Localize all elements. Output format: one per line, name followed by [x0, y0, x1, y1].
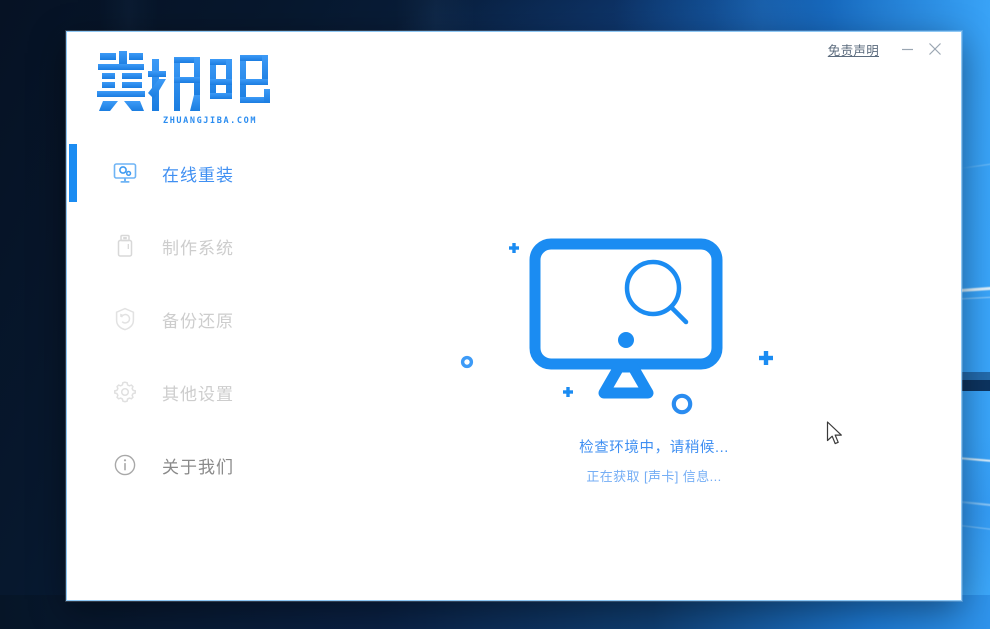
close-x-icon [928, 42, 942, 56]
monitor-settings-icon [112, 160, 138, 186]
shield-restore-icon [112, 306, 138, 332]
sidebar-item-other-settings[interactable]: 其他设置 [67, 363, 347, 421]
sidebar-item-create-system[interactable]: 制作系统 [67, 217, 347, 275]
info-circle-icon [112, 452, 138, 478]
decorative-ring-small [463, 358, 472, 367]
sidebar-item-label: 备份还原 [162, 307, 234, 332]
wallpaper-seam [960, 372, 990, 380]
status-secondary-text: 正在获取 [声卡] 信息... [347, 466, 961, 485]
disclaimer-link[interactable]: 免责声明 [828, 40, 879, 59]
sidebar-item-online-reinstall[interactable]: 在线重装 [67, 144, 347, 202]
sidebar-item-label: 在线重装 [162, 161, 234, 186]
wordmark-glyphs [96, 49, 271, 115]
sidebar-item-label: 关于我们 [162, 453, 234, 478]
sidebar-item-label: 其他设置 [162, 380, 234, 405]
minimize-dash-icon [901, 43, 914, 56]
monitor-magnifier-illustration [447, 226, 847, 426]
magnifier-handle [671, 307, 686, 322]
decorative-plus-marks [509, 243, 573, 397]
status-primary-text: 检查环境中，请稍候... [347, 436, 961, 457]
sidebar-item-label: 制作系统 [162, 234, 234, 259]
main-content: 检查环境中，请稍候... 正在获取 [声卡] 信息... [347, 66, 961, 600]
gear-icon [112, 379, 138, 405]
monitor-stand [604, 367, 648, 393]
brand-logo: ZHUANGJIBA.COM [96, 49, 296, 129]
active-indicator-bar [69, 144, 77, 202]
sidebar-item-about-us[interactable]: 关于我们 [67, 436, 347, 494]
close-button[interactable] [921, 37, 949, 61]
wallpaper-seam [960, 380, 990, 391]
decorative-ring-large [674, 396, 690, 412]
sidebar-item-backup-restore[interactable]: 备份还原 [67, 290, 347, 348]
desktop-background: 免责声明 [0, 0, 990, 629]
sidebar-nav: 在线重装 制作系统 [67, 144, 347, 544]
decorative-plus-large [759, 351, 773, 365]
status-messages: 检查环境中，请稍候... 正在获取 [声卡] 信息... [347, 436, 961, 485]
logo-domain-text: ZHUANGJIBA.COM [163, 116, 257, 126]
minimize-button[interactable] [893, 37, 921, 61]
usb-drive-icon [112, 233, 138, 259]
application-window: 免责声明 [66, 31, 962, 601]
power-dot [618, 332, 634, 348]
